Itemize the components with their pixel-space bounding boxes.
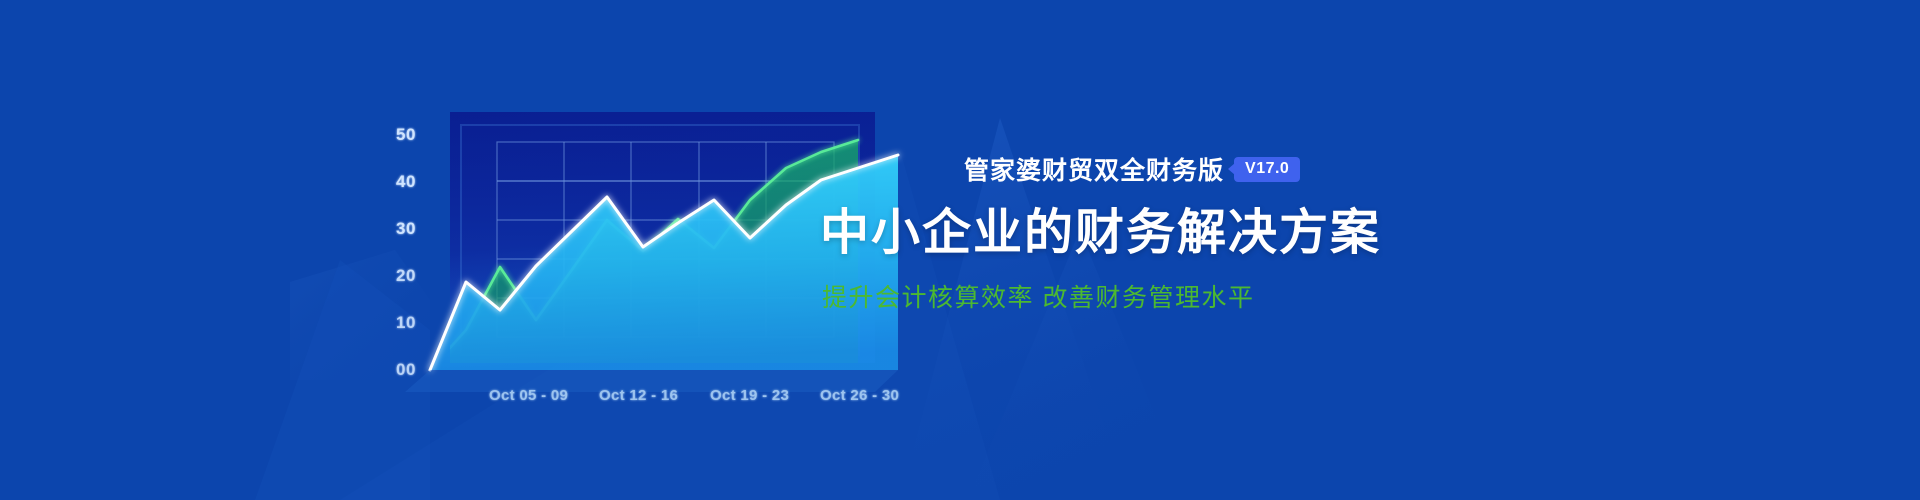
promo-banner: 50 40 30 20 10 00 Oct 05 - 09 Oct 12 - 1…	[0, 0, 1920, 500]
subtitle: 提升会计核算效率 改善财务管理水平	[822, 278, 1600, 314]
y-tick-label: 50	[396, 125, 416, 144]
y-tick-label: 10	[396, 313, 416, 332]
brand-row: 管家婆财贸双全财务版 V17.0	[964, 152, 1600, 186]
brand-name: 管家婆财贸双全财务版	[964, 151, 1224, 187]
x-tick-label: Oct 05 - 09	[489, 387, 568, 404]
x-tick-label: Oct 12 - 16	[599, 387, 678, 404]
chart-y-axis: 50 40 30 20 10 00	[396, 125, 416, 379]
copy-block: 管家婆财贸双全财务版 V17.0 中小企业的财务解决方案 提升会计核算效率 改善…	[1000, 152, 1600, 314]
y-tick-label: 30	[396, 219, 416, 238]
y-tick-label: 00	[396, 360, 416, 379]
x-tick-label: Oct 26 - 30	[820, 387, 899, 404]
y-tick-label: 20	[396, 266, 416, 285]
page-title: 中小企业的财务解决方案	[820, 208, 1600, 259]
y-tick-label: 40	[396, 172, 416, 191]
x-tick-label: Oct 19 - 23	[710, 387, 789, 404]
version-badge: V17.0	[1234, 157, 1300, 182]
